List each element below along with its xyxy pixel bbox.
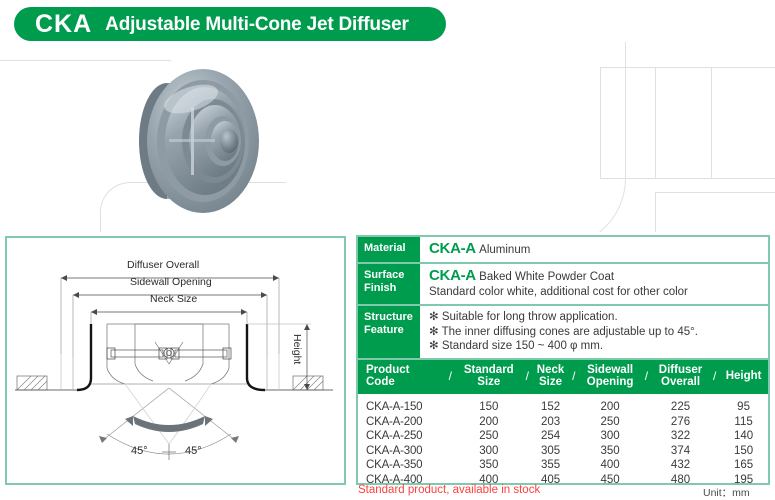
surface-code: CKA-A [429, 267, 476, 284]
cell-standard-size: 300 [455, 444, 523, 459]
col-header-neck-size: Neck Size [532, 360, 570, 394]
cell-neck-size: 305 [532, 444, 570, 459]
spec-label-surface-line1: Surface [364, 269, 420, 282]
cell-product-code: CKA-A-350 [358, 459, 446, 474]
cell-sidewall-opening: 450 [578, 473, 642, 488]
col-header-sidewall-opening: Sidewall Opening [578, 360, 642, 394]
spec-row-surface-finish: Surface Finish CKA-A Baked White Powder … [358, 264, 768, 306]
bg-shape-3 [295, 42, 626, 232]
spec-row-structure-feature: Structure Feature ✻ Suitable for long th… [358, 306, 768, 360]
col-header-line2: Code [366, 376, 446, 389]
surface-note: Standard color white, additional cost fo… [429, 285, 768, 300]
dim-label-neck-size: Neck Size [150, 293, 197, 305]
cell-standard-size: 200 [455, 415, 523, 430]
bullet-icon: ✻ [429, 311, 439, 323]
cell-height: 165 [719, 459, 768, 474]
cell-standard-size: 150 [455, 401, 523, 416]
cell-standard-size: 250 [455, 430, 523, 445]
dim-label-diffuser-overall: Diffuser Overall [127, 259, 199, 271]
cell-standard-size: 350 [455, 459, 523, 474]
spec-value-material: CKA-A Aluminum [420, 237, 768, 262]
dimensions-table-head: Product Code / Standard Size / Neck Size… [358, 360, 768, 394]
cell-height: 115 [719, 415, 768, 430]
spec-label-surface-line2: Finish [364, 282, 420, 295]
cell-neck-size: 254 [532, 430, 570, 445]
angle-label-right: 45° [185, 445, 202, 457]
feature-item-text: Standard size 150 ~ 400 φ mm. [442, 340, 603, 352]
cell-diffuser-overall: 276 [651, 415, 710, 430]
col-separator: / [710, 360, 719, 394]
spec-value-surface-finish: CKA-A Baked White Powder Coat Standard c… [420, 264, 768, 304]
table-header-row: Product Code / Standard Size / Neck Size… [358, 360, 768, 394]
spec-label-structure-line2: Feature [364, 324, 420, 337]
cell-height: 140 [719, 430, 768, 445]
col-separator: / [569, 360, 578, 394]
surface-text: Baked White Powder Coat [479, 271, 614, 283]
cell-sidewall-opening: 250 [578, 415, 642, 430]
feature-item-text: The inner diffusing cones are adjustable… [442, 326, 698, 338]
table-row: CKA-A-350 350 355 400 432 165 [358, 459, 768, 474]
cell-product-code: CKA-A-200 [358, 415, 446, 430]
spec-label-structure-feature: Structure Feature [358, 306, 420, 358]
cell-diffuser-overall: 374 [651, 444, 710, 459]
bullet-icon: ✻ [429, 326, 439, 338]
spec-value-structure-feature: ✻ Suitable for long throw application. ✻… [420, 306, 768, 358]
dim-label-sidewall-opening: Sidewall Opening [130, 276, 212, 288]
product-code-title: CKA [35, 12, 92, 37]
cell-diffuser-overall: 322 [651, 430, 710, 445]
col-header-line1: Standard [455, 364, 523, 377]
cell-height: 150 [719, 444, 768, 459]
col-header-line2: Size [532, 376, 570, 389]
dim-label-height: Height [291, 334, 303, 364]
cell-product-code: CKA-A-300 [358, 444, 446, 459]
col-header-diffuser-overall: Diffuser Overall [651, 360, 710, 394]
table-row: CKA-A-200 200 203 250 276 115 [358, 415, 768, 430]
feature-item: ✻ Suitable for long throw application. [429, 310, 768, 325]
feature-item-text: Suitable for long throw application. [442, 311, 618, 323]
cell-sidewall-opening: 200 [578, 401, 642, 416]
cell-diffuser-overall: 480 [651, 473, 710, 488]
spec-label-structure-line1: Structure [364, 311, 420, 324]
specification-panel: Material CKA-A Aluminum Surface Finish C… [356, 235, 770, 485]
cell-diffuser-overall: 225 [651, 401, 710, 416]
cell-product-code: CKA-A-150 [358, 401, 446, 416]
table-spacer-row [358, 394, 768, 401]
datasheet-page: CKA Adjustable Multi-Cone Jet Diffuser [0, 0, 775, 500]
cell-diffuser-overall: 432 [651, 459, 710, 474]
title-bar: CKA Adjustable Multi-Cone Jet Diffuser [14, 7, 446, 41]
stock-note: Standard product, available in stock [358, 484, 540, 496]
col-header-line2: Overall [651, 376, 710, 389]
material-text: Aluminum [479, 244, 530, 256]
spec-label-surface-finish: Surface Finish [358, 264, 420, 304]
dimensions-table-body: CKA-A-150 150 152 200 225 95 CKA-A-200 2… [358, 394, 768, 488]
material-code: CKA-A [429, 240, 476, 257]
table-row: CKA-A-250 250 254 300 322 140 [358, 430, 768, 445]
page-title: Adjustable Multi-Cone Jet Diffuser [105, 15, 409, 34]
col-header-line1: Neck [532, 364, 570, 377]
bg-shape-5 [655, 67, 775, 179]
angle-label-left: 45° [131, 445, 148, 457]
col-header-line1: Sidewall [578, 364, 642, 377]
technical-drawing-panel: Diffuser Overall Sidewall Opening Neck S… [5, 236, 346, 485]
col-header-line1: Height [719, 370, 768, 383]
product-photo [95, 55, 305, 225]
unit-note: Unit：mm [703, 485, 750, 500]
cell-sidewall-opening: 300 [578, 430, 642, 445]
cell-neck-size: 355 [532, 459, 570, 474]
col-header-standard-size: Standard Size [455, 360, 523, 394]
cell-neck-size: 152 [532, 401, 570, 416]
col-header-line2: Size [455, 376, 523, 389]
bullet-icon: ✻ [429, 340, 439, 352]
bg-shape-6 [655, 192, 775, 232]
cell-product-code: CKA-A-250 [358, 430, 446, 445]
col-separator: / [446, 360, 455, 394]
spec-label-material: Material [358, 237, 420, 262]
cell-neck-size: 203 [532, 415, 570, 430]
cell-height: 95 [719, 401, 768, 416]
dimensions-table: Product Code / Standard Size / Neck Size… [358, 360, 768, 488]
col-header-height: Height [719, 360, 768, 394]
feature-item: ✻ The inner diffusing cones are adjustab… [429, 325, 768, 340]
cell-sidewall-opening: 350 [578, 444, 642, 459]
cell-sidewall-opening: 400 [578, 459, 642, 474]
spec-row-material: Material CKA-A Aluminum [358, 237, 768, 264]
col-header-product-code: Product Code [358, 360, 446, 394]
col-header-line1: Diffuser [651, 364, 710, 377]
col-header-line1: Product [366, 364, 446, 377]
col-separator: / [523, 360, 532, 394]
col-header-line2: Opening [578, 376, 642, 389]
table-row: CKA-A-300 300 305 350 374 150 [358, 444, 768, 459]
col-separator: / [642, 360, 651, 394]
table-row: CKA-A-150 150 152 200 225 95 [358, 401, 768, 416]
feature-item: ✻ Standard size 150 ~ 400 φ mm. [429, 339, 768, 354]
